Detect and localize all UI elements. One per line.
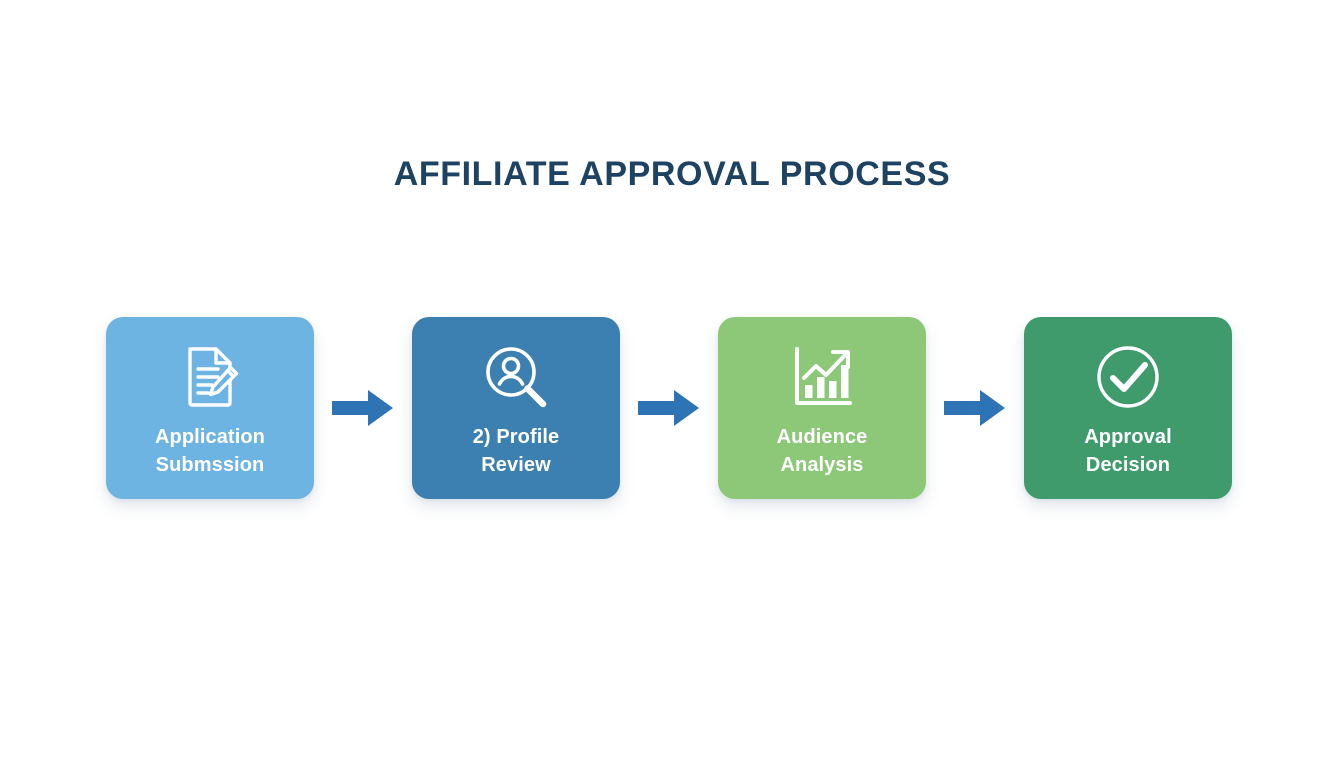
step-card-approval-decision[interactable]: Approval Decision xyxy=(1024,317,1232,499)
magnifier-person-icon xyxy=(480,339,552,411)
step-label: Approval Decision xyxy=(1076,423,1179,480)
step-label: 2) Profile Review xyxy=(465,423,568,480)
check-circle-icon xyxy=(1092,339,1164,411)
bar-chart-growth-icon xyxy=(786,339,858,411)
arrow-right-icon xyxy=(936,382,1014,434)
step-card-profile-review[interactable]: 2) Profile Review xyxy=(412,317,620,499)
step-card-application-submission[interactable]: Application Submssion xyxy=(106,317,314,499)
arrow-right-icon xyxy=(324,382,402,434)
arrow-right-icon xyxy=(630,382,708,434)
step-card-audience-analysis[interactable]: Audience Analysis xyxy=(718,317,926,499)
diagram-canvas: AFFILIATE APPROVAL PROCESS Application S… xyxy=(0,0,1344,768)
document-pencil-icon xyxy=(174,339,246,411)
page-title: AFFILIATE APPROVAL PROCESS xyxy=(0,155,1344,194)
step-label: Audience Analysis xyxy=(769,423,876,480)
step-label: Application Submssion xyxy=(147,423,273,480)
process-flow-row: Application Submssion 2) Profile Review xyxy=(106,313,1232,503)
